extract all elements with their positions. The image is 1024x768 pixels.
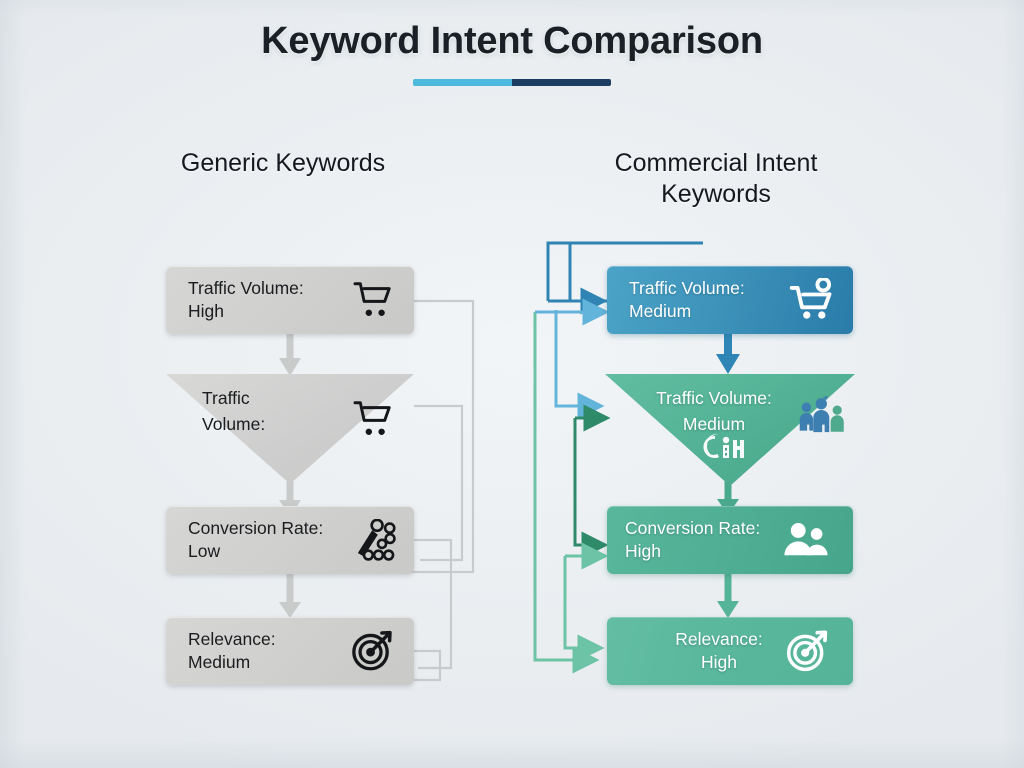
- shopping-cart-icon: [352, 400, 396, 438]
- right-node-conversion-rate[interactable]: Conversion Rate: High: [607, 506, 853, 574]
- connector-layer: [0, 0, 1024, 768]
- left-node-conversion-rate-label: Conversion Rate: Low: [188, 517, 323, 564]
- diagram-canvas: Keyword Intent Comparison Generic Keywor…: [0, 0, 1024, 768]
- right-node-traffic-volume-label: Traffic Volume: Medium: [629, 277, 745, 324]
- shopping-cart-icon: [789, 278, 837, 322]
- conversion-funnel-icon: [352, 519, 398, 561]
- right-node-relevance[interactable]: Relevance: High: [607, 617, 853, 685]
- left-node-conversion-rate[interactable]: Conversion Rate: Low: [166, 506, 414, 574]
- left-node-traffic-volume-label: Traffic Volume: High: [188, 277, 304, 324]
- shopping-cart-icon: [352, 281, 396, 319]
- right-node-relevance-label: Relevance: High: [653, 628, 785, 675]
- column-header-commercial: Commercial Intent Keywords: [566, 148, 866, 209]
- target-icon: [350, 629, 394, 673]
- users-icon: [783, 520, 829, 560]
- left-node-relevance-label: Relevance: Medium: [188, 628, 276, 675]
- page-title: Keyword Intent Comparison: [0, 20, 1024, 63]
- right-node-traffic-volume-funnel[interactable]: Traffic Volume: Medium: [605, 374, 855, 486]
- title-underline-left: [413, 79, 512, 86]
- left-node-traffic-volume[interactable]: Traffic Volume: High: [166, 266, 414, 334]
- obscured-glyph-icon: [701, 428, 755, 468]
- right-node-conversion-rate-label: Conversion Rate: High: [625, 517, 760, 564]
- left-node-traffic-volume-funnel-label: Traffic Volume:: [202, 386, 265, 437]
- left-node-traffic-volume-funnel[interactable]: Traffic Volume:: [166, 374, 414, 484]
- right-node-traffic-volume[interactable]: Traffic Volume: Medium: [607, 266, 853, 334]
- target-icon: [785, 629, 829, 673]
- canvas-vignette: [0, 0, 1024, 768]
- title-underline-right: [512, 79, 611, 86]
- title-underline: [413, 79, 611, 86]
- people-group-icon: [797, 396, 847, 442]
- column-header-generic: Generic Keywords: [133, 148, 433, 179]
- left-node-relevance[interactable]: Relevance: Medium: [166, 617, 414, 685]
